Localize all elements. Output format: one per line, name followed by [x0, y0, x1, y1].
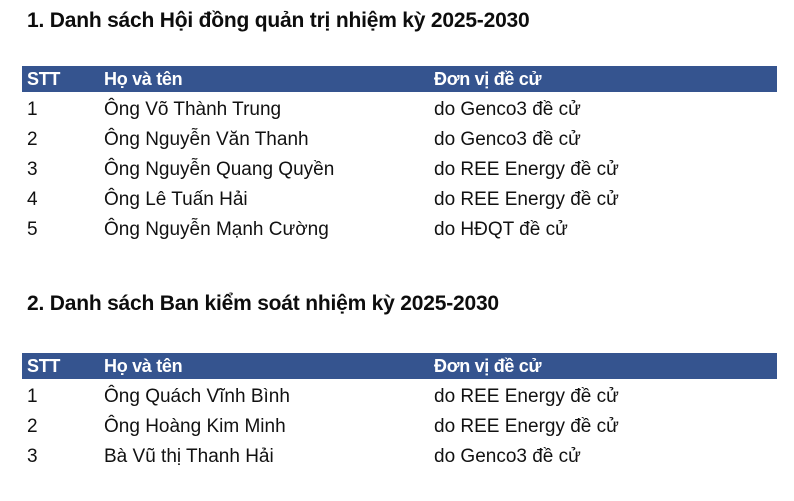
- cell-stt: 1: [27, 382, 99, 412]
- table-row: 5 Ông Nguyễn Mạnh Cường do HĐQT đề cử: [22, 215, 777, 245]
- table-row: 4 Ông Lê Tuấn Hải do REE Energy đề cử: [22, 185, 777, 215]
- table-row: 3 Ông Nguyễn Quang Quyền do REE Energy đ…: [22, 155, 777, 185]
- cell-name: Ông Lê Tuấn Hải: [104, 185, 429, 215]
- table-row: 2 Ông Hoàng Kim Minh do REE Energy đề cử: [22, 412, 777, 442]
- column-header-name: Họ và tên: [104, 66, 429, 92]
- cell-name: Ông Quách Vĩnh Bình: [104, 382, 429, 412]
- cell-stt: 3: [27, 442, 99, 472]
- cell-unit: do Genco3 đề cử: [434, 95, 769, 125]
- column-header-name: Họ và tên: [104, 353, 429, 379]
- column-header-stt: STT: [27, 353, 99, 379]
- cell-stt: 2: [27, 412, 99, 442]
- table-header-row: STT Họ và tên Đơn vị đề cử: [22, 66, 777, 92]
- supervisory-board-table: STT Họ và tên Đơn vị đề cử 1 Ông Quách V…: [22, 353, 777, 472]
- column-header-unit: Đơn vị đề cử: [434, 353, 769, 379]
- table-row: 1 Ông Quách Vĩnh Bình do REE Energy đề c…: [22, 382, 777, 412]
- board-of-directors-table: STT Họ và tên Đơn vị đề cử 1 Ông Võ Thàn…: [22, 66, 777, 245]
- cell-unit: do REE Energy đề cử: [434, 412, 769, 442]
- cell-stt: 1: [27, 95, 99, 125]
- cell-stt: 3: [27, 155, 99, 185]
- cell-unit: do REE Energy đề cử: [434, 382, 769, 412]
- table-row: 1 Ông Võ Thành Trung do Genco3 đề cử: [22, 95, 777, 125]
- cell-name: Bà Vũ thị Thanh Hải: [104, 442, 429, 472]
- cell-unit: do HĐQT đề cử: [434, 215, 769, 245]
- section-2-heading: 2. Danh sách Ban kiểm soát nhiệm kỳ 2025…: [27, 291, 499, 317]
- table-row: 3 Bà Vũ thị Thanh Hải do Genco3 đề cử: [22, 442, 777, 472]
- cell-name: Ông Nguyễn Mạnh Cường: [104, 215, 429, 245]
- cell-name: Ông Nguyễn Văn Thanh: [104, 125, 429, 155]
- cell-unit: do REE Energy đề cử: [434, 185, 769, 215]
- column-header-unit: Đơn vị đề cử: [434, 66, 769, 92]
- cell-stt: 5: [27, 215, 99, 245]
- table-body: 1 Ông Võ Thành Trung do Genco3 đề cử 2 Ô…: [22, 92, 777, 245]
- cell-stt: 2: [27, 125, 99, 155]
- cell-unit: do Genco3 đề cử: [434, 442, 769, 472]
- cell-name: Ông Võ Thành Trung: [104, 95, 429, 125]
- table-body: 1 Ông Quách Vĩnh Bình do REE Energy đề c…: [22, 379, 777, 472]
- cell-name: Ông Hoàng Kim Minh: [104, 412, 429, 442]
- cell-unit: do REE Energy đề cử: [434, 155, 769, 185]
- table-row: 2 Ông Nguyễn Văn Thanh do Genco3 đề cử: [22, 125, 777, 155]
- cell-name: Ông Nguyễn Quang Quyền: [104, 155, 429, 185]
- column-header-stt: STT: [27, 66, 99, 92]
- cell-unit: do Genco3 đề cử: [434, 125, 769, 155]
- section-1-heading: 1. Danh sách Hội đồng quản trị nhiệm kỳ …: [27, 8, 530, 34]
- document-page: 1. Danh sách Hội đồng quản trị nhiệm kỳ …: [0, 0, 794, 501]
- cell-stt: 4: [27, 185, 99, 215]
- table-header-row: STT Họ và tên Đơn vị đề cử: [22, 353, 777, 379]
